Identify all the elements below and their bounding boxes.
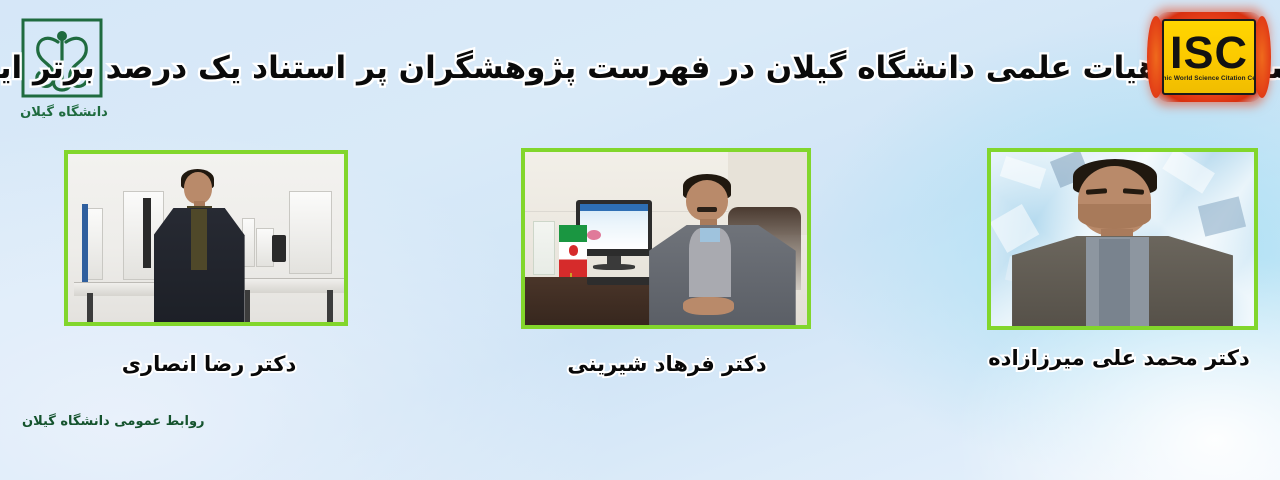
- person-shirt-placket: [1099, 239, 1131, 326]
- lab-equipment: [289, 191, 332, 274]
- person-name-1: دکتر رضا انصاری: [64, 352, 354, 376]
- news-banner: دانشگاه گیلان سه عضو هیات علمی دانشگاه گ…: [0, 0, 1280, 480]
- isc-acronym: ISC: [1170, 32, 1248, 73]
- footer-credit: روابط عمومی دانشگاه گیلان: [22, 414, 205, 429]
- lab-bench-leg: [245, 290, 251, 322]
- person-shirt-placket: [191, 209, 208, 269]
- isc-logo: ISC Islamic World Science Citation Cente…: [1153, 12, 1265, 102]
- person-photo-2: [521, 148, 811, 329]
- headline: سه عضو هیات علمی دانشگاه گیلان در فهرست …: [120, 26, 1125, 110]
- lab-equipment: [143, 198, 151, 269]
- person-head: [686, 180, 728, 222]
- lab-equipment: [82, 204, 88, 281]
- person-eyebrow: [1122, 188, 1143, 194]
- lab-equipment: [272, 235, 286, 262]
- person-photo-1-image: [68, 154, 344, 322]
- keyboard: [587, 277, 655, 286]
- headline-text: سه عضو هیات علمی دانشگاه گیلان در فهرست …: [0, 49, 1280, 88]
- person-hands: [683, 297, 734, 314]
- lab-bench-leg: [327, 290, 333, 322]
- isc-plate: ISC Islamic World Science Citation Cente…: [1162, 19, 1256, 95]
- person-jaw: [1078, 204, 1152, 228]
- university-flag: [533, 221, 555, 275]
- person-photo-2-image: [525, 152, 807, 325]
- monitor-base: [593, 264, 635, 269]
- person-moustache: [697, 207, 717, 211]
- person-photo-1: [64, 150, 348, 326]
- person-eyebrow: [1086, 188, 1107, 194]
- iran-flag-emblem: [569, 245, 579, 255]
- person-head: [184, 172, 212, 204]
- isc-tagline: Islamic World Science Citation Center: [1162, 75, 1256, 82]
- person-collar: [700, 228, 720, 242]
- lab-bench-leg: [87, 293, 93, 322]
- monitor-screen-header: [580, 204, 648, 211]
- person-name-3: دکتر محمد علی میرزازاده: [960, 346, 1278, 370]
- person-name-2: دکتر فرهاد شیرینی: [519, 352, 815, 376]
- person-photo-3-image: [991, 152, 1254, 326]
- university-logo-caption: دانشگاه گیلان: [20, 104, 108, 120]
- person-photo-3: [987, 148, 1258, 330]
